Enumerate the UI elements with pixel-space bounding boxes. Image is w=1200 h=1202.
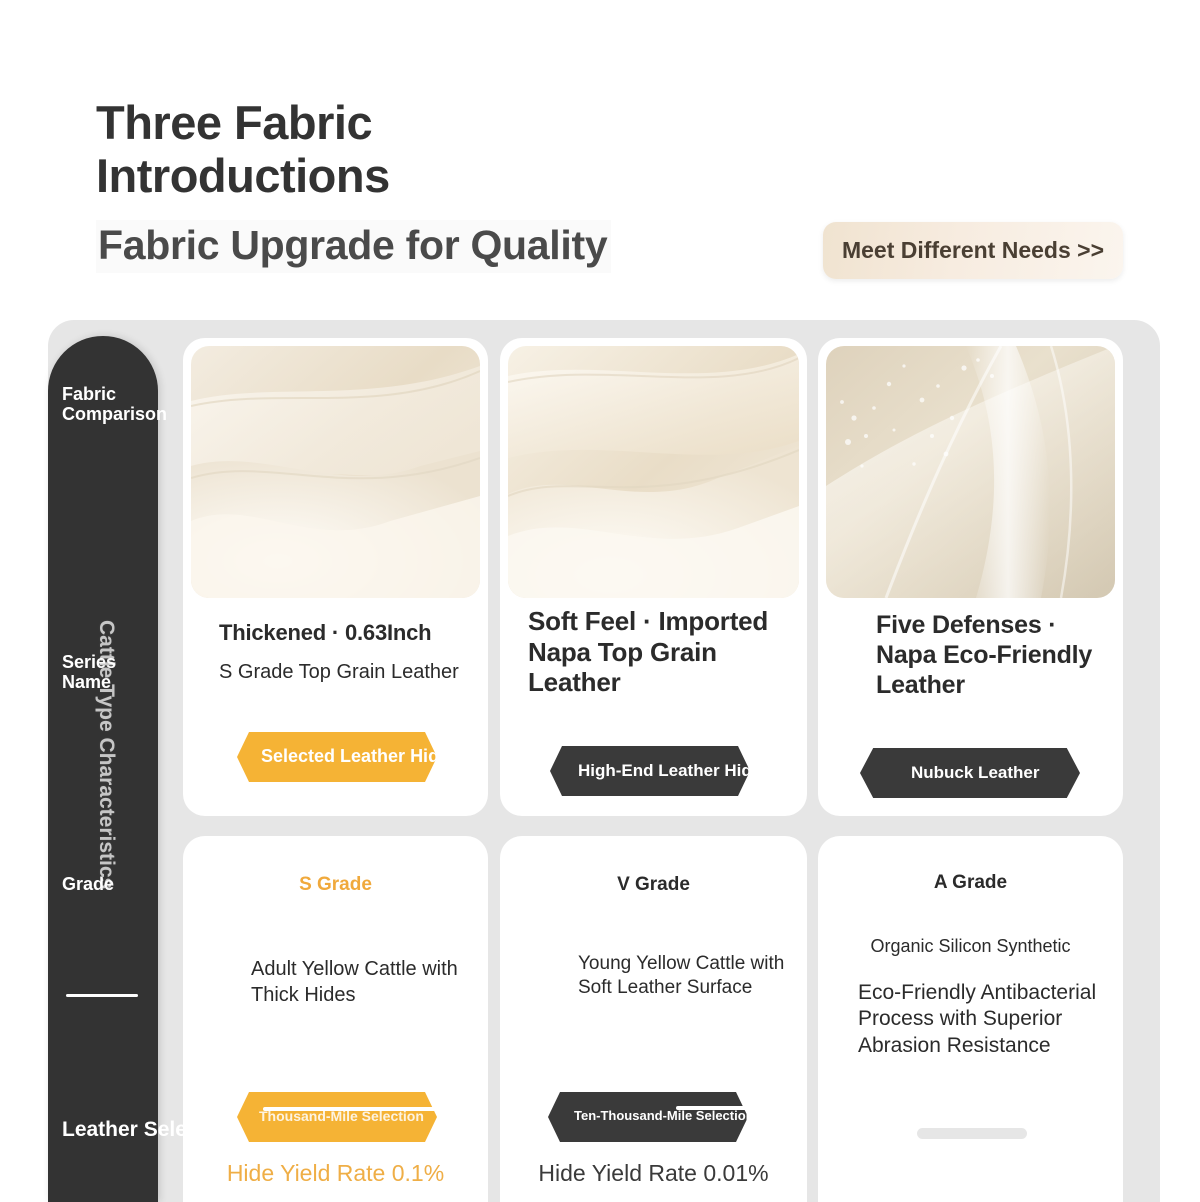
sidebar-item-fabric-comparison: Fabric Comparison	[62, 384, 167, 424]
card-2-headline: Soft Feel · Imported Napa Top Grain Leat…	[528, 606, 791, 698]
leather-texture-image-1	[191, 346, 480, 598]
page-title-line2: Introductions	[96, 150, 716, 203]
sidebar-label-comparison: Comparison	[62, 404, 167, 424]
fabric-grade-card-3[interactable]: A Grade Organic Silicon Synthetic Eco-Fr…	[818, 836, 1123, 1202]
card-3-description-small: Organic Silicon Synthetic	[818, 936, 1123, 958]
page-title-line1: Three Fabric	[96, 97, 716, 150]
leather-texture-image-2	[508, 346, 799, 598]
header: Three Fabric Introductions Fabric Upgrad…	[0, 0, 1200, 320]
fabric-grade-card-1[interactable]: S Grade Adult Yellow Cattle with Thick H…	[183, 836, 488, 1202]
card-1-badge[interactable]	[237, 732, 437, 782]
sidebar-divider	[66, 994, 138, 997]
leather-texture-image-3	[826, 346, 1115, 598]
page-subtitle: Fabric Upgrade for Quality	[96, 220, 611, 273]
fabric-card-2[interactable]: Soft Feel · Imported Napa Top Grain Leat…	[500, 338, 807, 816]
card-3-headline: Five Defenses · Napa Eco-Friendly Leathe…	[876, 610, 1107, 700]
card-1-headline: Thickened · 0.63Inch	[219, 620, 472, 646]
card-1-bottom-badge[interactable]	[237, 1092, 437, 1142]
fabric-grade-card-2[interactable]: V Grade Young Yellow Cattle with Soft Le…	[500, 836, 807, 1202]
sidebar-label-fabric: Fabric	[62, 384, 167, 404]
fabric-card-3[interactable]: Five Defenses · Napa Eco-Friendly Leathe…	[818, 338, 1123, 816]
card-1-description: Adult Yellow Cattle with Thick Hides	[251, 956, 460, 1008]
meet-different-needs-button[interactable]: Meet Different Needs >>	[823, 222, 1123, 279]
card-2-grade: V Grade	[500, 874, 807, 896]
card-3-badge[interactable]	[860, 748, 1080, 798]
page-root: Three Fabric Introductions Fabric Upgrad…	[0, 0, 1200, 1202]
card-3-grade: A Grade	[818, 872, 1123, 894]
page-title: Three Fabric Introductions	[96, 97, 716, 202]
cattle-type-characteristics-vertical-label: Cattle Type Characteristics	[94, 620, 118, 889]
card-1-subline: S Grade Top Grain Leather	[219, 660, 476, 684]
card-1-grade: S Grade	[183, 874, 488, 896]
card-2-yield: Hide Yield Rate 0.01%	[500, 1160, 807, 1187]
card-1-yield: Hide Yield Rate 0.1%	[183, 1160, 488, 1187]
card-2-badge[interactable]	[550, 746, 750, 796]
card-2-bottom-badge[interactable]	[548, 1092, 748, 1142]
card-2-description: Young Yellow Cattle with Soft Leather Su…	[578, 952, 785, 999]
card-3-placeholder-bar	[917, 1128, 1027, 1139]
fabric-card-1[interactable]: Thickened · 0.63Inch S Grade Top Grain L…	[183, 338, 488, 816]
card-3-description: Eco-Friendly Antibacterial Process with …	[858, 980, 1103, 1059]
